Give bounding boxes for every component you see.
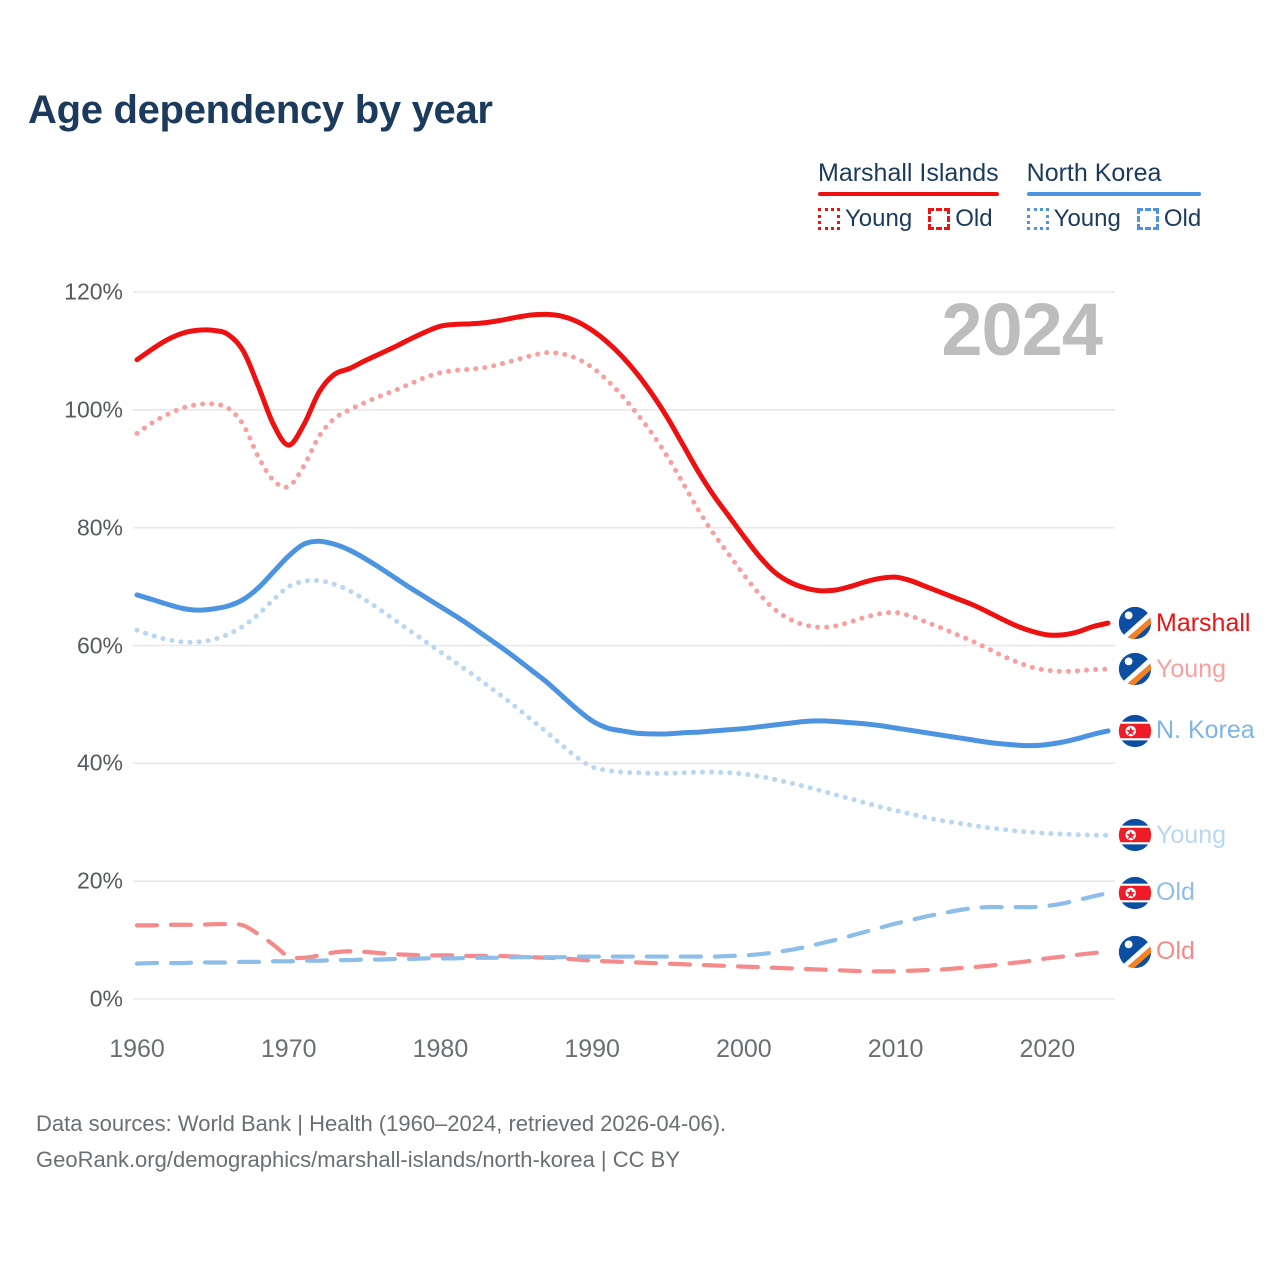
legend-rule-marshall (818, 192, 999, 196)
series-line-3 (137, 541, 1108, 745)
marshall-islands-flag (1118, 652, 1152, 686)
legend-item-marshall-young[interactable]: Young (818, 205, 912, 233)
chart-page: Age dependency by year Marshall Islands … (0, 0, 1280, 1280)
x-tick-label: 2020 (992, 1035, 1102, 1064)
y-tick-label: 120% (33, 279, 123, 306)
legend-country-label: North Korea (1027, 160, 1162, 192)
series-line-2 (137, 924, 1108, 971)
series-end-label-text: Marshall (1156, 609, 1250, 638)
dashed-square-icon (928, 208, 950, 230)
legend-country-label: Marshall Islands (818, 160, 999, 192)
series-end-label-text: Old (1156, 878, 1195, 907)
marshall-islands-flag (1118, 935, 1152, 969)
series-end-label-2[interactable]: N. Korea (1118, 714, 1255, 748)
north-korea-flag (1118, 876, 1152, 910)
legend-group-north-korea: North Korea Young Old (1027, 160, 1202, 233)
x-tick-label: 2010 (841, 1035, 951, 1064)
series-line-4 (137, 580, 1108, 835)
footer: Data sources: World Bank | Health (1960–… (36, 1106, 726, 1177)
footer-line-sources: Data sources: World Bank | Health (1960–… (36, 1106, 726, 1142)
year-watermark: 2024 (941, 293, 1102, 367)
legend: Marshall Islands Young Old North Korea Y (818, 160, 1201, 233)
marshall-islands-flag (1118, 606, 1152, 640)
gridlines (133, 292, 1115, 999)
dotted-square-icon (1027, 208, 1049, 230)
legend-group-marshall-islands: Marshall Islands Young Old (818, 160, 999, 233)
legend-item-marshall-old[interactable]: Old (928, 205, 992, 233)
north-korea-flag (1118, 714, 1152, 748)
marshall-islands-flag (1118, 606, 1152, 640)
legend-items-marshall: Young Old (818, 205, 993, 233)
north-korea-flag (1118, 818, 1152, 852)
north-korea-flag (1118, 876, 1152, 910)
series-end-label-text: N. Korea (1156, 716, 1255, 745)
legend-item-label: Young (845, 205, 912, 233)
series-line-1 (137, 353, 1108, 672)
x-tick-label: 1960 (82, 1035, 192, 1064)
y-tick-label: 80% (33, 514, 123, 541)
page-title: Age dependency by year (28, 88, 493, 133)
y-tick-label: 60% (33, 632, 123, 659)
x-tick-label: 1980 (385, 1035, 495, 1064)
x-tick-label: 1970 (234, 1035, 344, 1064)
y-tick-label: 40% (33, 750, 123, 777)
series-line-5 (137, 893, 1108, 964)
legend-item-nkorea-young[interactable]: Young (1027, 205, 1121, 233)
footer-line-attribution: GeoRank.org/demographics/marshall-island… (36, 1142, 726, 1178)
dashed-square-icon (1137, 208, 1159, 230)
series-paths (137, 314, 1108, 971)
y-tick-label: 20% (33, 868, 123, 895)
north-korea-flag (1118, 714, 1152, 748)
legend-item-label: Young (1054, 205, 1121, 233)
legend-item-label: Old (1164, 205, 1201, 233)
legend-rule-north-korea (1027, 192, 1202, 196)
y-tick-label: 100% (33, 396, 123, 423)
marshall-islands-flag (1118, 652, 1152, 686)
y-tick-label: 0% (33, 986, 123, 1013)
series-end-label-4[interactable]: Old (1118, 876, 1195, 910)
series-end-label-1[interactable]: Young (1118, 652, 1226, 686)
series-end-label-0[interactable]: Marshall (1118, 606, 1250, 640)
legend-item-nkorea-old[interactable]: Old (1137, 205, 1201, 233)
marshall-islands-flag (1118, 935, 1152, 969)
x-tick-label: 1990 (537, 1035, 647, 1064)
legend-items-north-korea: Young Old (1027, 205, 1202, 233)
series-end-label-3[interactable]: Young (1118, 818, 1226, 852)
series-end-label-text: Young (1156, 821, 1226, 850)
north-korea-flag (1118, 818, 1152, 852)
x-tick-label: 2000 (689, 1035, 799, 1064)
series-end-label-text: Young (1156, 655, 1226, 684)
dotted-square-icon (818, 208, 840, 230)
series-end-label-5[interactable]: Old (1118, 935, 1195, 969)
series-end-label-text: Old (1156, 937, 1195, 966)
legend-item-label: Old (955, 205, 992, 233)
